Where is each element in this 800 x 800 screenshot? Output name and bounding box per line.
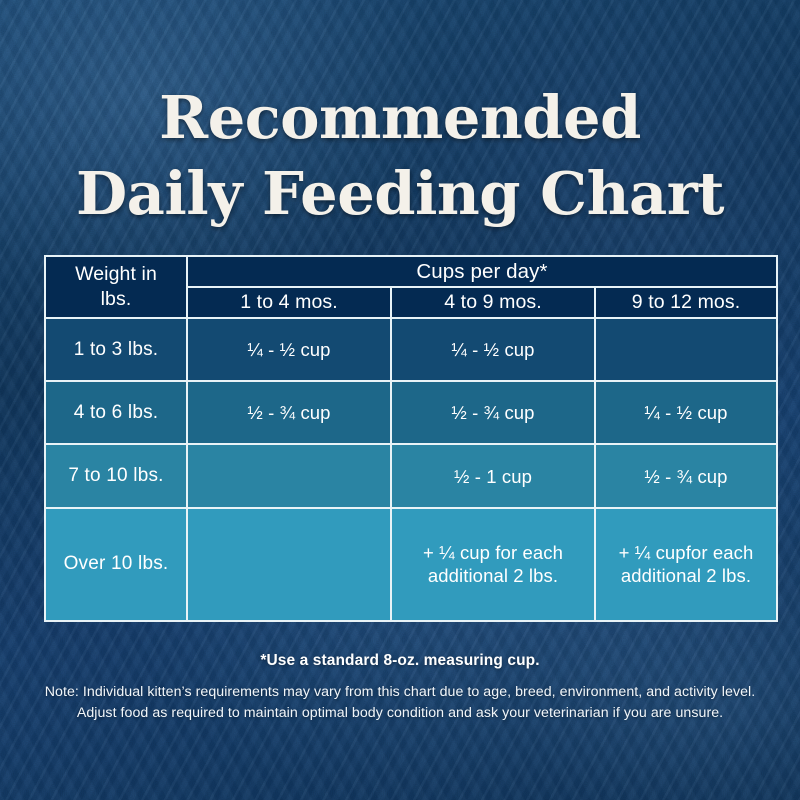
table-header: Weight in lbs. Cups per day* 1 to 4 mos.… (45, 256, 777, 318)
weight-cell: 4 to 6 lbs. (45, 381, 187, 444)
amount-cell-4-to-9-mos: ½ - ¾ cup (391, 381, 595, 444)
footnote-measuring-cup: *Use a standard 8-oz. measuring cup. (0, 652, 800, 670)
feeding-chart-page: Recommended Daily Feeding Chart Weight i… (0, 0, 800, 800)
table-body: 1 to 3 lbs. ¼ - ½ cup ¼ - ½ cup 4 to 6 l… (45, 318, 777, 621)
column-header-weight-line-2: lbs. (101, 288, 132, 310)
column-header-4-to-9-mos: 4 to 9 mos. (391, 287, 595, 318)
table-row: 7 to 10 lbs. ½ - 1 cup ½ - ¾ cup (45, 444, 777, 507)
amount-cell-4-to-9-mos: + ¼ cup for each additional 2 lbs. (391, 508, 595, 621)
amount-cell-9-to-12-mos: + ¼ cupfor each additional 2 lbs. (595, 508, 777, 621)
amount-cell-4-to-9-mos: ½ - 1 cup (391, 444, 595, 507)
table-row: Over 10 lbs. + ¼ cup for each additional… (45, 508, 777, 621)
amount-cell-4-to-9-mos: ¼ - ½ cup (391, 318, 595, 381)
page-title: Recommended Daily Feeding Chart (0, 80, 800, 232)
feeding-chart-table: Weight in lbs. Cups per day* 1 to 4 mos.… (44, 255, 778, 622)
weight-cell: Over 10 lbs. (45, 508, 187, 621)
page-title-line-1: Recommended (0, 80, 800, 156)
weight-cell: 7 to 10 lbs. (45, 444, 187, 507)
column-header-weight-line-1: Weight in (75, 263, 157, 285)
footnote-note-line-2: Adjust food as required to maintain opti… (0, 703, 800, 724)
page-title-line-2: Daily Feeding Chart (0, 156, 800, 232)
amount-cell-1-to-4-mos: ¼ - ½ cup (187, 318, 391, 381)
table-row: 4 to 6 lbs. ½ - ¾ cup ½ - ¾ cup ¼ - ½ cu… (45, 381, 777, 444)
table-row: 1 to 3 lbs. ¼ - ½ cup ¼ - ½ cup (45, 318, 777, 381)
amount-cell-9-to-12-mos: ¼ - ½ cup (595, 381, 777, 444)
amount-cell-1-to-4-mos (187, 444, 391, 507)
footnote-note: Note: Individual kitten’s requirements m… (0, 682, 800, 724)
weight-cell: 1 to 3 lbs. (45, 318, 187, 381)
column-header-9-to-12-mos: 9 to 12 mos. (595, 287, 777, 318)
amount-cell-9-to-12-mos (595, 318, 777, 381)
column-header-weight: Weight in lbs. (45, 256, 187, 318)
amount-cell-9-to-12-mos: ½ - ¾ cup (595, 444, 777, 507)
footnote-note-line-1: Note: Individual kitten’s requirements m… (0, 682, 800, 703)
column-header-1-to-4-mos: 1 to 4 mos. (187, 287, 391, 318)
amount-cell-1-to-4-mos: ½ - ¾ cup (187, 381, 391, 444)
table-header-row-top: Weight in lbs. Cups per day* (45, 256, 777, 287)
amount-cell-1-to-4-mos (187, 508, 391, 621)
column-header-cups-per-day: Cups per day* (187, 256, 777, 287)
